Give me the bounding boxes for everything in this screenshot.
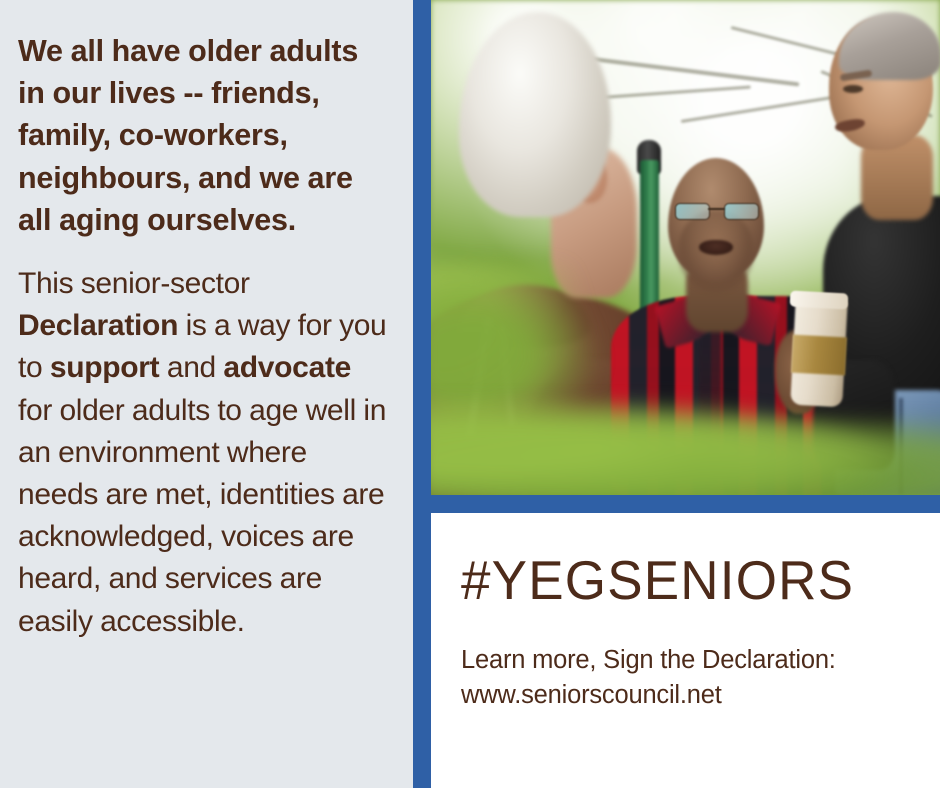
- body-bold-support: support: [50, 351, 160, 384]
- photo-older-adults-conversation: [431, 0, 940, 495]
- coffee-cup-lid: [790, 290, 849, 309]
- left-text-panel: We all have older adults in our lives --…: [0, 0, 413, 788]
- eyeglass-lens-left: [675, 203, 710, 220]
- person-center-mouth: [699, 240, 733, 255]
- coffee-cup-sleeve: [791, 335, 847, 376]
- declaration-poster: We all have older adults in our lives --…: [0, 0, 940, 788]
- blue-vertical-divider: [413, 0, 431, 788]
- body-part-3: and: [159, 351, 223, 384]
- headline-text: We all have older adults in our lives --…: [18, 30, 387, 241]
- person-center-eyeglasses: [675, 203, 759, 218]
- body-paragraph: This senior-sector Declaration is a way …: [18, 263, 387, 643]
- cta-website-url[interactable]: www.seniorscouncil.net: [461, 678, 918, 713]
- foreground-foliage-bottom: [431, 399, 940, 495]
- body-part-1: This senior-sector: [18, 267, 250, 300]
- body-bold-declaration: Declaration: [18, 309, 178, 342]
- blue-horizontal-divider: [413, 495, 940, 513]
- body-part-4: for older adults to age well in an envir…: [18, 394, 386, 638]
- hashtag-yegseniors: #YEGSENIORS: [461, 551, 918, 611]
- call-to-action-card: #YEGSENIORS Learn more, Sign the Declara…: [431, 513, 940, 788]
- eyeglass-lens-right: [724, 203, 759, 220]
- cta-text: Learn more, Sign the Declaration: www.se…: [461, 643, 918, 713]
- cta-line-1: Learn more, Sign the Declaration:: [461, 646, 836, 674]
- person-right-eye: [843, 85, 863, 93]
- body-bold-advocate: advocate: [223, 351, 351, 384]
